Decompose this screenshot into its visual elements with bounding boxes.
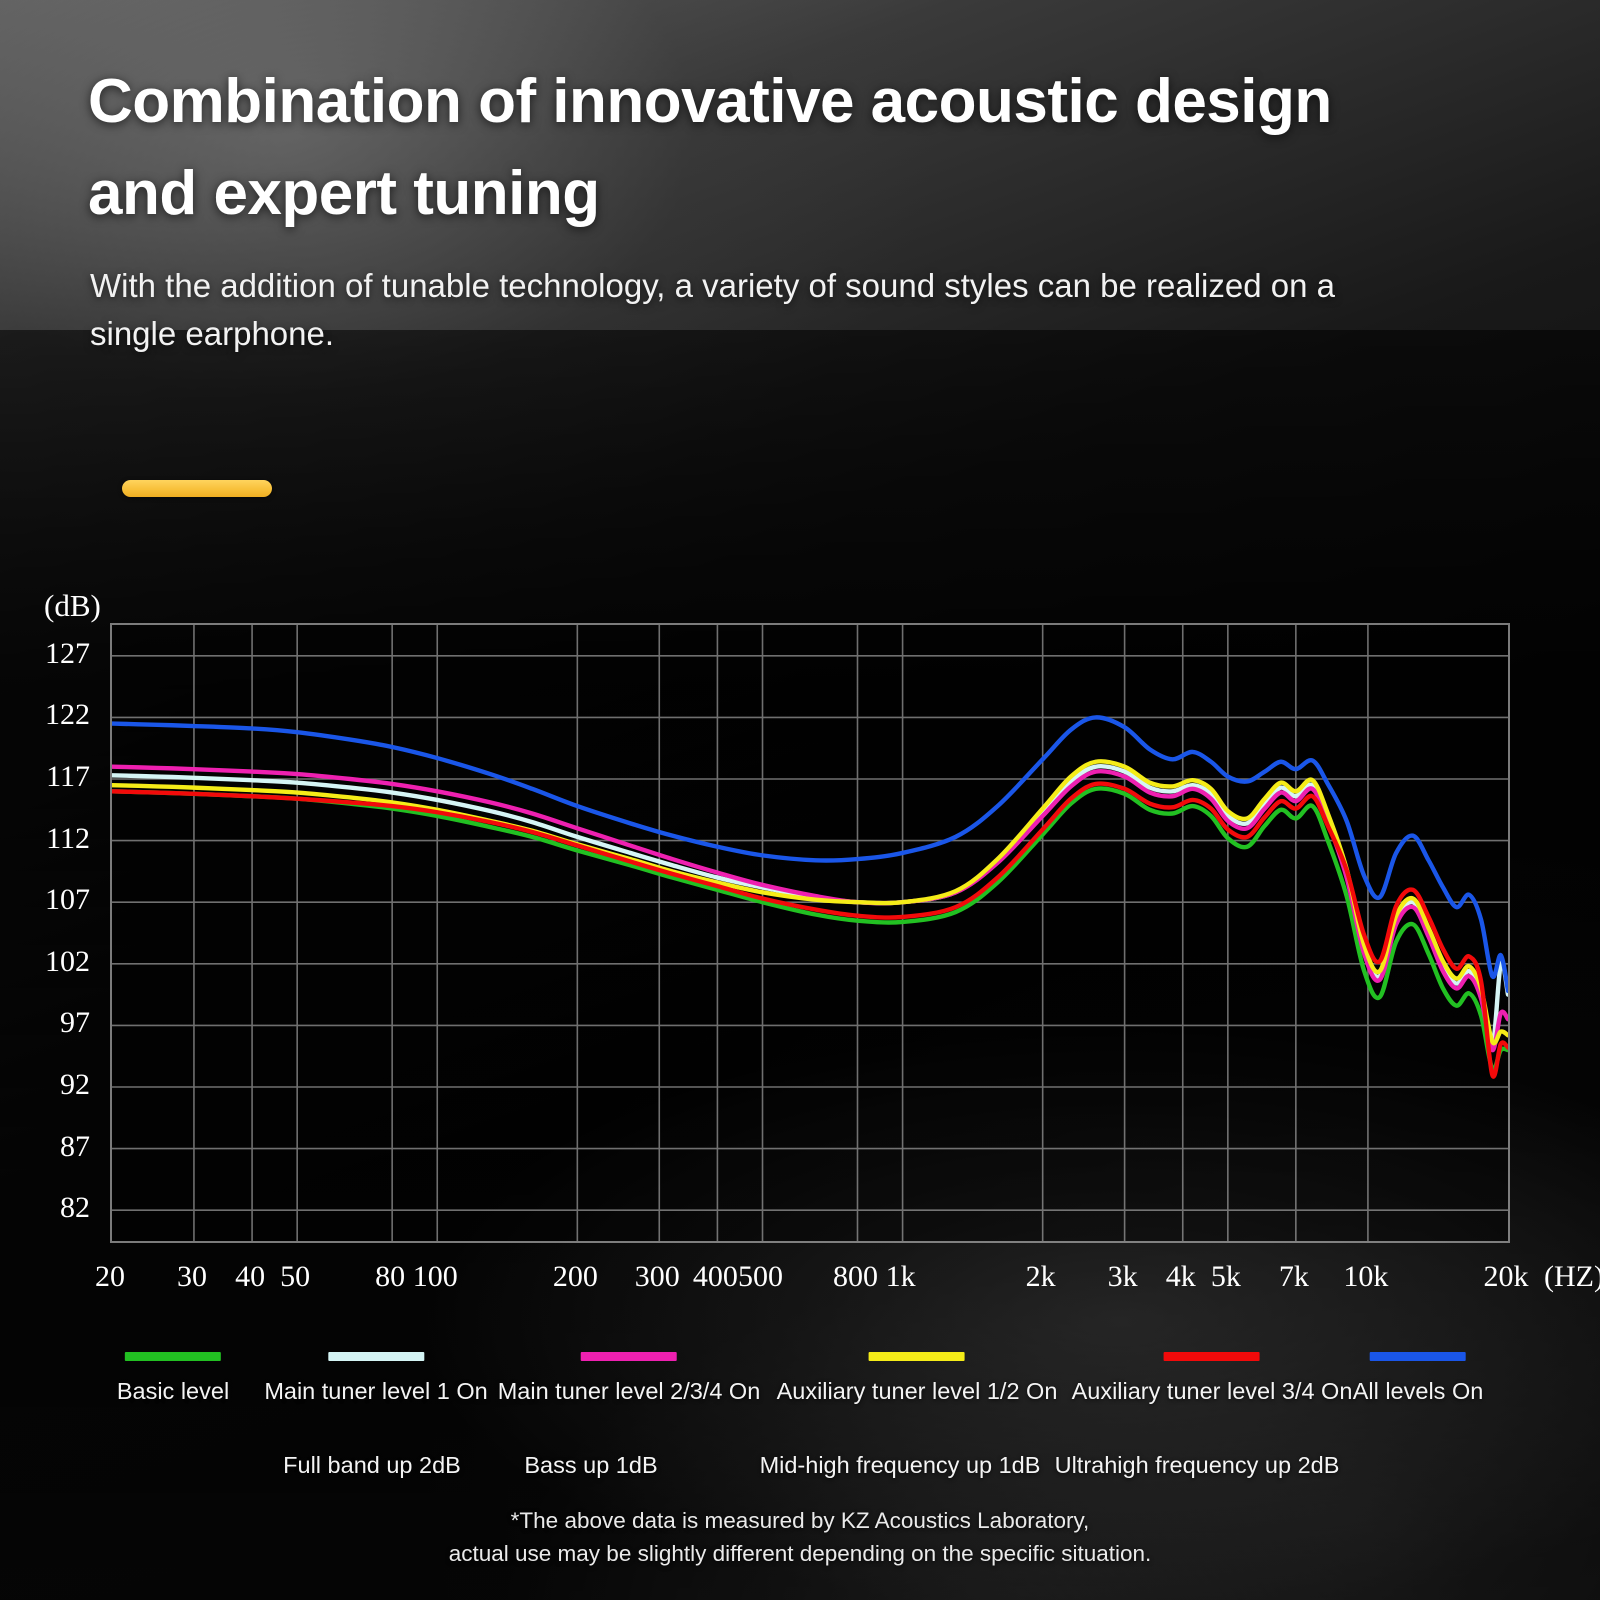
y-tick-label: 97 — [60, 1006, 90, 1040]
y-tick-label: 117 — [46, 760, 90, 794]
series-line — [112, 717, 1508, 991]
y-tick-label: 112 — [46, 822, 90, 856]
x-tick-label: 400 — [693, 1260, 738, 1294]
y-tick-label: 92 — [60, 1068, 90, 1102]
x-tick-label: 200 — [553, 1260, 598, 1294]
x-tick-label: 30 — [177, 1260, 207, 1294]
page-subtitle: With the addition of tunable technology,… — [90, 262, 1410, 357]
x-tick-label: 20k — [1484, 1260, 1529, 1294]
y-tick-label: 122 — [45, 698, 90, 732]
legend-color-swatch — [125, 1352, 221, 1361]
x-tick-label: 7k — [1279, 1260, 1309, 1294]
legend-item[interactable]: Auxiliary tuner level 1/2 On — [777, 1352, 1058, 1405]
legend-item[interactable]: Main tuner level 2/3/4 On — [498, 1352, 761, 1405]
x-tick-label: 300 — [635, 1260, 680, 1294]
frequency-response-chart: (dB) 12712211711210710297928782 20304050… — [0, 560, 1600, 1320]
x-tick-label: 2k — [1026, 1260, 1056, 1294]
legend-color-swatch — [328, 1352, 424, 1361]
x-tick-label: 80 — [375, 1260, 405, 1294]
legend-label: Main tuner level 2/3/4 On — [498, 1378, 761, 1405]
chart-canvas — [112, 625, 1508, 1241]
y-tick-label: 127 — [45, 637, 90, 671]
series-line — [112, 783, 1508, 1076]
accent-divider-bar — [122, 480, 272, 497]
x-tick-label: 10k — [1343, 1260, 1388, 1294]
legend-item[interactable]: Auxiliary tuner level 3/4 On — [1072, 1352, 1353, 1405]
footnote-line-1: *The above data is measured by KZ Acoust… — [0, 1505, 1600, 1538]
chart-plot-area — [110, 623, 1510, 1243]
page-title: Combination of innovative acoustic desig… — [88, 56, 1418, 240]
legend-note: Bass up 1dB — [524, 1452, 657, 1479]
legend-color-swatch — [1164, 1352, 1260, 1361]
legend-note: Full band up 2dB — [283, 1452, 461, 1479]
legend-label: Main tuner level 1 On — [264, 1378, 487, 1405]
legend-label: All levels On — [1353, 1378, 1484, 1405]
x-tick-label: 3k — [1108, 1260, 1138, 1294]
x-tick-label: 5k — [1211, 1260, 1241, 1294]
legend-note: Mid-high frequency up 1dB — [760, 1452, 1041, 1479]
legend-color-swatch — [869, 1352, 965, 1361]
y-tick-label: 107 — [45, 883, 90, 917]
page-root: Combination of innovative acoustic desig… — [0, 0, 1600, 1600]
legend-item[interactable]: Basic level — [117, 1352, 229, 1405]
y-axis-tick-labels: 12712211711210710297928782 — [0, 623, 100, 1223]
x-axis-tick-labels: 20304050801002003004005008001k2k3k4k5k7k… — [0, 1260, 1600, 1308]
legend-label: Auxiliary tuner level 3/4 On — [1072, 1378, 1353, 1405]
legend-color-swatch — [581, 1352, 677, 1361]
legend-color-swatch — [1370, 1352, 1466, 1361]
legend-label: Basic level — [117, 1378, 229, 1405]
y-axis-unit-label: (dB) — [44, 588, 101, 624]
chart-footnote: *The above data is measured by KZ Acoust… — [0, 1505, 1600, 1570]
legend-notes-row: Full band up 2dBBass up 1dBMid-high freq… — [0, 1452, 1600, 1492]
x-tick-label: 100 — [413, 1260, 458, 1294]
y-tick-label: 102 — [45, 945, 90, 979]
y-tick-label: 82 — [60, 1191, 90, 1225]
x-axis-unit-label: (HZ) — [1544, 1260, 1600, 1294]
x-tick-label: 800 — [833, 1260, 878, 1294]
x-tick-label: 40 — [235, 1260, 265, 1294]
x-tick-label: 1k — [886, 1260, 916, 1294]
y-tick-label: 87 — [60, 1130, 90, 1164]
legend-series-row: Basic levelMain tuner level 1 OnMain tun… — [0, 1352, 1600, 1422]
x-tick-label: 50 — [280, 1260, 310, 1294]
legend-label: Auxiliary tuner level 1/2 On — [777, 1378, 1058, 1405]
legend-item[interactable]: All levels On — [1353, 1352, 1484, 1405]
x-tick-label: 500 — [738, 1260, 783, 1294]
x-tick-label: 4k — [1166, 1260, 1196, 1294]
footnote-line-2: actual use may be slightly different dep… — [0, 1538, 1600, 1571]
series-line — [112, 788, 1508, 1069]
legend-note: Ultrahigh frequency up 2dB — [1055, 1452, 1340, 1479]
legend-item[interactable]: Main tuner level 1 On — [264, 1352, 487, 1405]
x-tick-label: 20 — [95, 1260, 125, 1294]
